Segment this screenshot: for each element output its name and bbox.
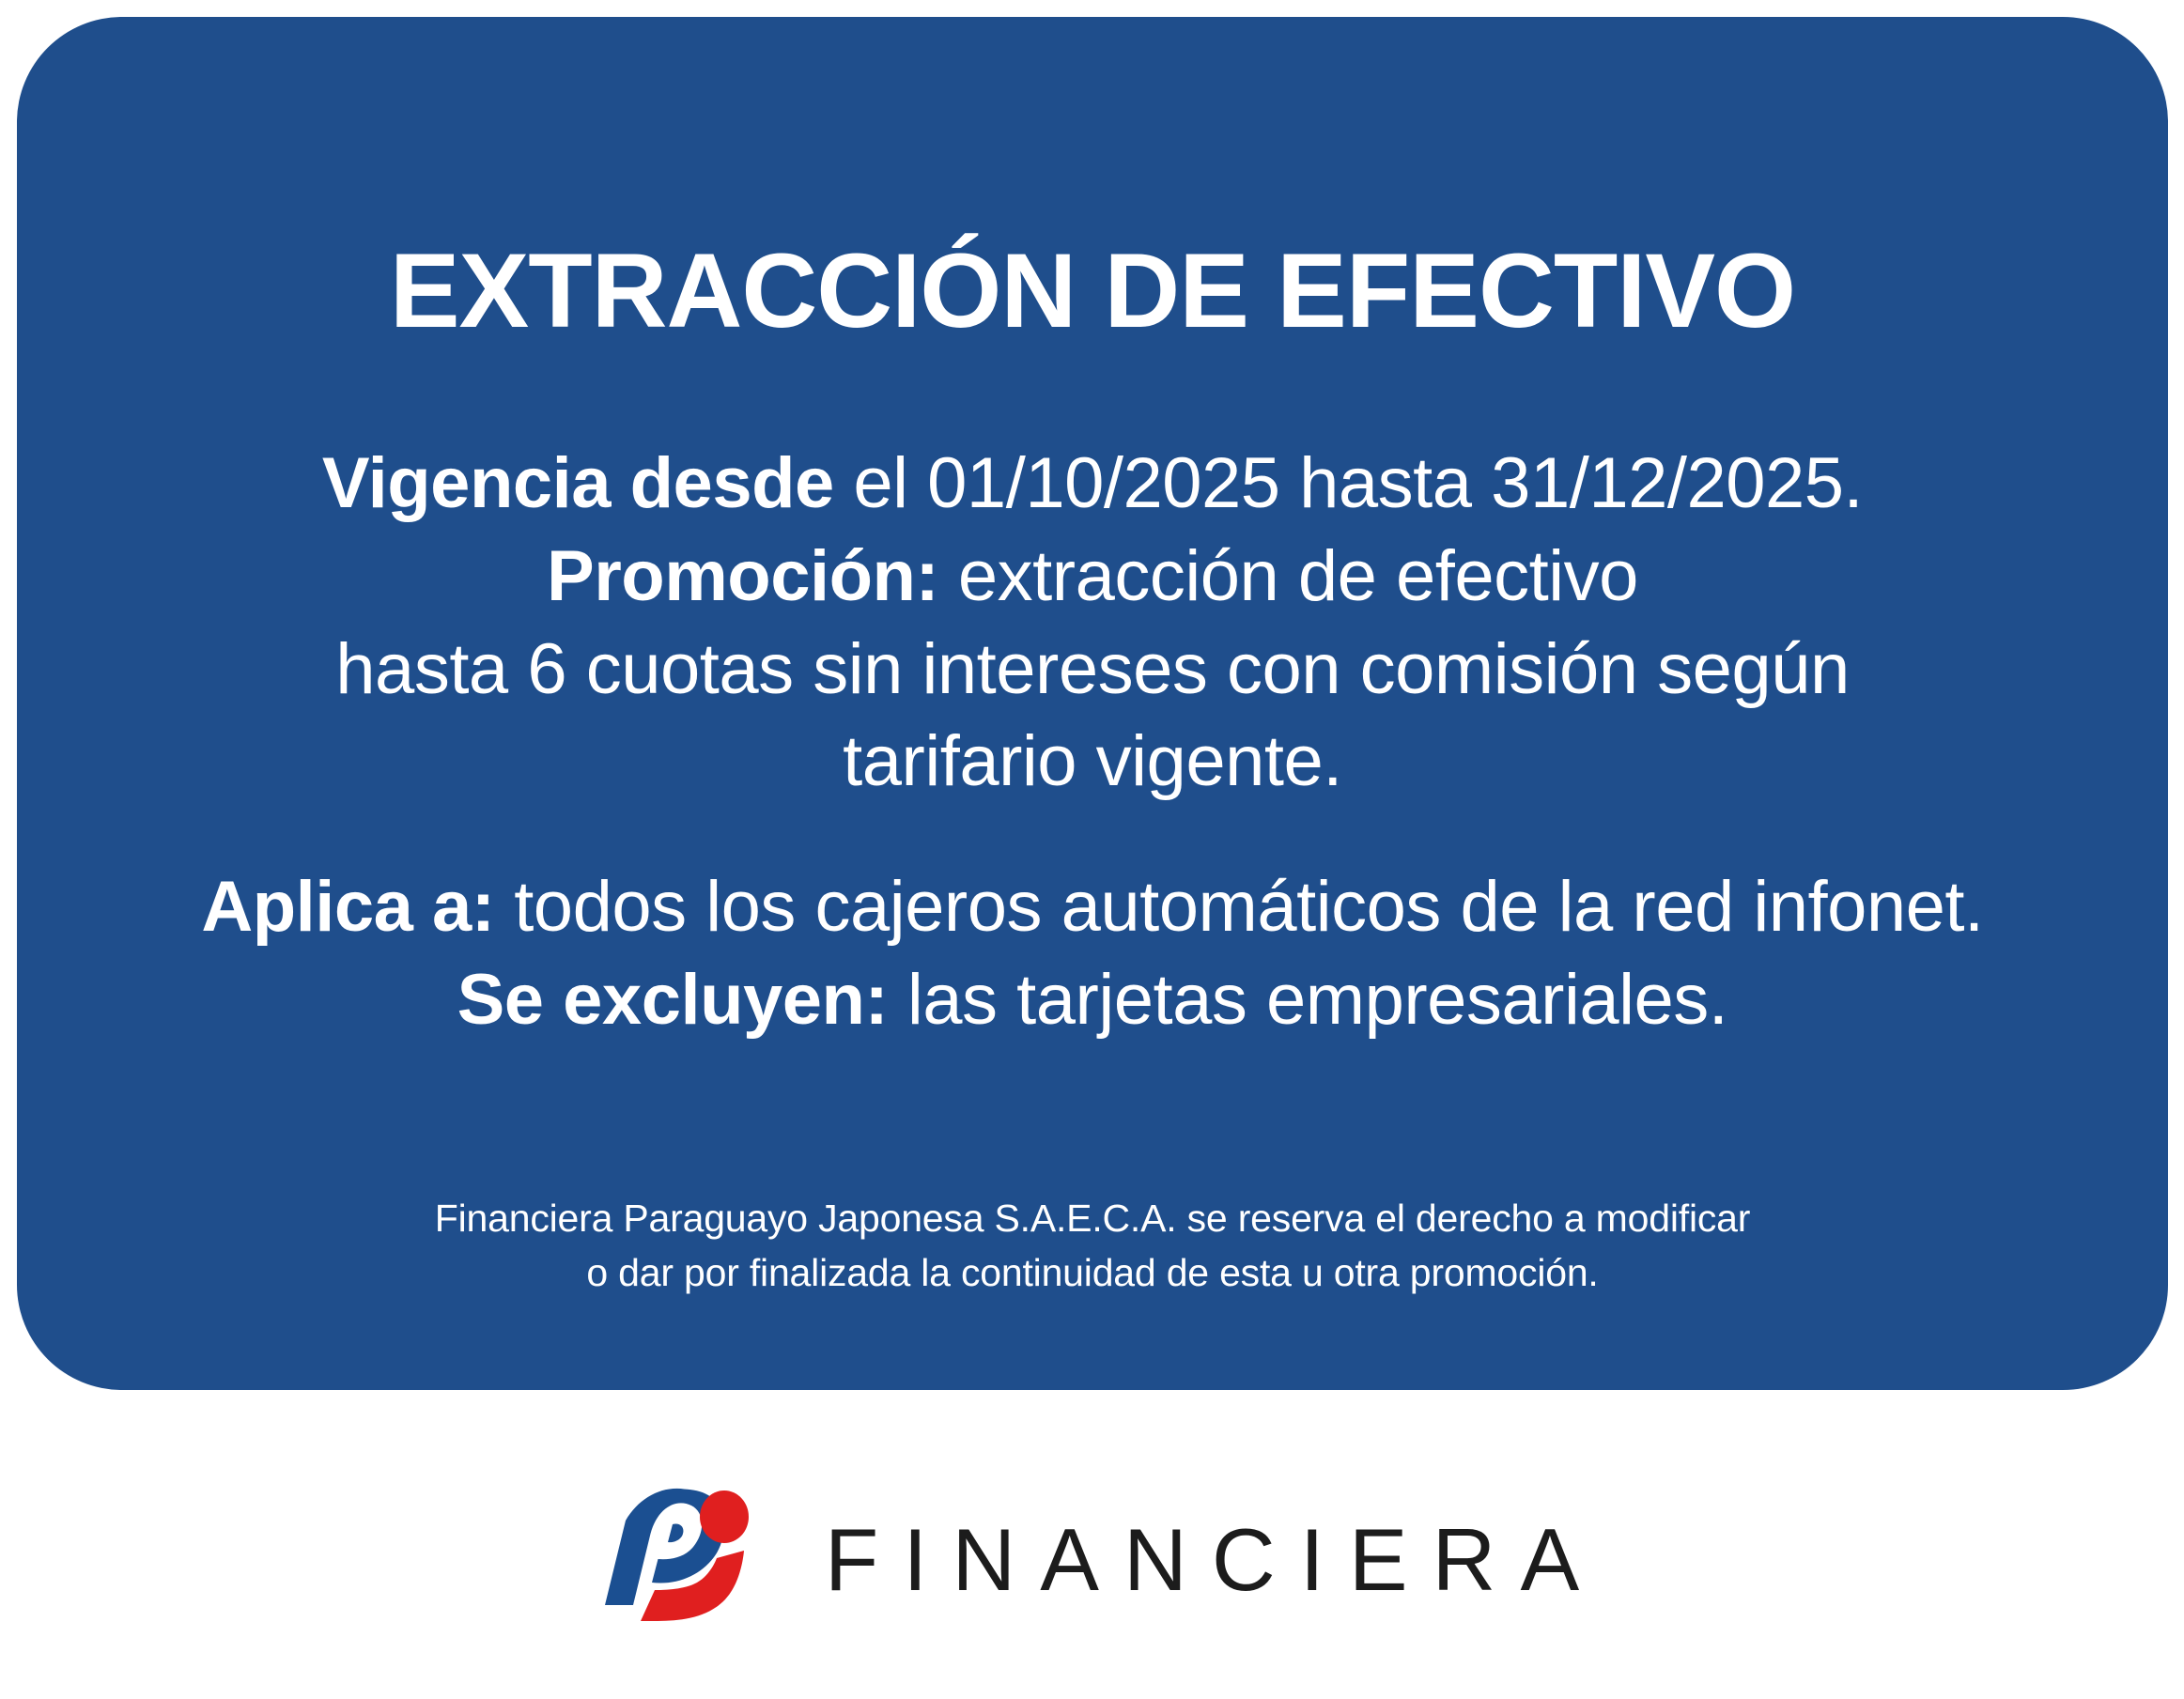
promo-line-rest: hasta 6 cuotas sin intereses con comisió…: [335, 629, 1849, 709]
promo-line: hasta 6 cuotas sin intereses con comisió…: [73, 624, 2112, 717]
disclaimer-line: o dar por finalizada la continuidad de e…: [73, 1245, 2112, 1300]
brand-wordmark: FINANCIERA: [825, 1516, 1603, 1604]
brand-lockup: FINANCIERA: [0, 1471, 2184, 1649]
pj-financiera-logo-icon: [605, 1485, 763, 1635]
page-title: EXTRACCIÓN DE EFECTIVO: [17, 235, 2168, 348]
disclaimer-line: Financiera Paraguayo Japonesa S.A.E.C.A.…: [73, 1191, 2112, 1245]
promo-line: tarifario vigente.: [73, 716, 2112, 809]
promo-line-rest: el 01/10/2025 hasta 31/12/2025.: [834, 443, 1863, 523]
promo-details: Vigencia desde el 01/10/2025 hasta 31/12…: [73, 438, 2112, 1047]
promo-line-lead: Vigencia desde: [322, 443, 834, 523]
promo-paragraph-scope: Aplica a: todos los cajeros automáticos …: [73, 861, 2112, 1047]
legal-disclaimer: Financiera Paraguayo Japonesa S.A.E.C.A.…: [73, 1191, 2112, 1300]
promo-line-lead: Aplica a:: [201, 867, 494, 947]
promo-line: Promoción: extracción de efectivo: [73, 531, 2112, 624]
promo-line: Aplica a: todos los cajeros automáticos …: [73, 861, 2112, 954]
promo-line: Se excluyen: las tarjetas empresariales.: [73, 954, 2112, 1047]
promo-line-rest: extracción de efectivo: [938, 536, 1638, 616]
promo-line-lead: Promoción:: [547, 536, 938, 616]
promo-paragraph-validity: Vigencia desde el 01/10/2025 hasta 31/12…: [73, 438, 2112, 809]
promo-line-lead: Se excluyen:: [457, 960, 889, 1040]
paragraph-spacer: [73, 809, 2112, 861]
promo-line: Vigencia desde el 01/10/2025 hasta 31/12…: [73, 438, 2112, 531]
promo-line-rest: todos los cajeros automáticos de la red …: [495, 867, 1984, 947]
promo-line-rest: tarifario vigente.: [843, 721, 1342, 801]
promo-line-rest: las tarjetas empresariales.: [888, 960, 1727, 1040]
promotional-poster: EXTRACCIÓN DE EFECTIVO Vigencia desde el…: [0, 0, 2184, 1699]
promo-card: EXTRACCIÓN DE EFECTIVO Vigencia desde el…: [17, 17, 2168, 1390]
